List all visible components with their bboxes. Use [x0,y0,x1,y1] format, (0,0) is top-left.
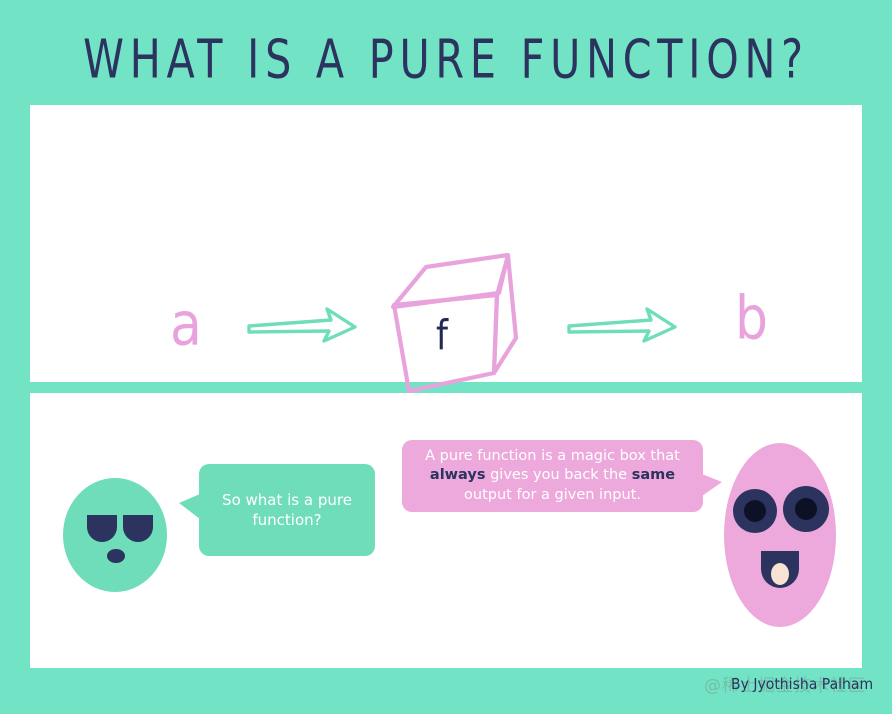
infographic-page: { "page": { "title": "WHAT IS A PURE FUN… [0,0,892,714]
function-box-label: f [436,312,448,360]
diagram-panel: a f [30,105,862,382]
bubble-tail [702,474,722,496]
page-title: WHAT IS A PURE FUNCTION? [83,29,809,92]
answer-line-3: output for a given input. [464,486,641,506]
title-bar: WHAT IS A PURE FUNCTION? [0,24,892,96]
question-bubble-text: So what is a pure function? [213,490,361,531]
answer-line-2: always gives you back the same [430,466,675,486]
answer-emphasis-same: same [632,467,675,483]
answer-line-1: A pure function is a magic box that [425,447,680,467]
answer-line-2-mid: gives you back the [485,467,631,483]
arrow-right-icon [565,305,680,354]
cube-shape-icon [382,245,542,409]
green-blob-character-avatar [63,478,168,593]
output-label: b [735,285,768,354]
function-flow-diagram: a f [30,105,862,382]
arrow-right-icon [245,305,360,354]
conversation-panel: So what is a pure function? A pure funct… [30,393,862,668]
answer-speech-bubble: A pure function is a magic box that alwa… [402,440,703,512]
pink-blob-character-avatar [723,443,838,628]
bubble-tail [179,494,200,519]
input-label: a [170,291,202,360]
question-speech-bubble: So what is a pure function? [199,464,375,556]
answer-emphasis-always: always [430,467,486,483]
author-signature: By Jyothisha Palham [731,677,873,694]
